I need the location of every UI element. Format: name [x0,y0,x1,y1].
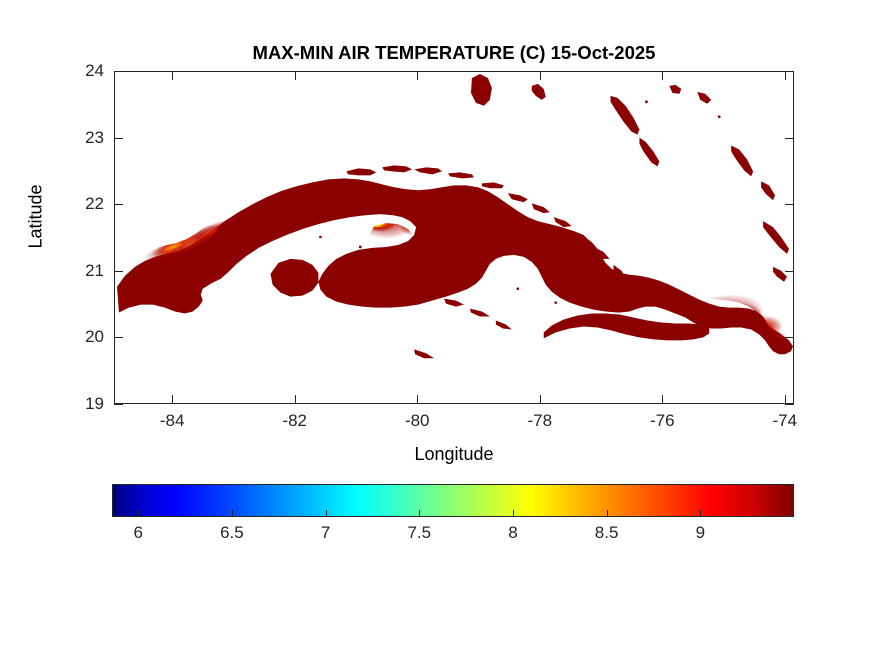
y-tick-label: 19 [62,395,104,412]
colorbar-tick-mark [513,510,514,517]
x-axis-label: Longitude [114,444,794,465]
y-tick-mark [114,204,123,205]
x-tick-mark-top [417,71,418,80]
x-tick-mark-top [172,71,173,80]
x-tick-mark [540,395,541,404]
colorbar-tick-mark [326,510,327,517]
x-tick-mark-top [662,71,663,80]
y-tick-mark [114,138,123,139]
x-tick-mark-top [785,71,786,80]
y-tick-mark [114,71,123,72]
colorbar-tick-label: 8.5 [572,524,642,541]
y-tick-mark-right [785,138,794,139]
colorbar-tick-mark [700,510,701,517]
y-axis-label: Latitude [26,157,47,277]
x-tick-mark [662,395,663,404]
y-tick-label: 21 [62,262,104,279]
y-tick-label: 23 [62,129,104,146]
colorbar-tick-label: 6.5 [197,524,267,541]
colorbar-tick-mark [419,510,420,517]
y-tick-mark [114,337,123,338]
y-tick-mark [114,271,123,272]
page-title: MAX-MIN AIR TEMPERATURE (C) 15-Oct-2025 [114,42,794,64]
y-tick-label: 22 [62,195,104,212]
colorbar-tick-mark [232,510,233,517]
y-tick-mark-right [785,404,794,405]
x-tick-mark [172,395,173,404]
cuba-temperature-raster [115,72,793,403]
y-tick-label: 24 [62,62,104,79]
y-tick-mark-right [785,204,794,205]
x-tick-mark [785,395,786,404]
x-tick-label: -74 [750,412,820,429]
y-tick-mark-right [785,271,794,272]
y-tick-label: 20 [62,328,104,345]
colorbar-tick-mark [607,510,608,517]
x-tick-mark [295,395,296,404]
map-axes[interactable] [114,71,794,404]
colorbar-tick-label: 7.5 [384,524,454,541]
colorbar-tick-label: 8 [478,524,548,541]
x-tick-label: -76 [627,412,697,429]
x-tick-mark [417,395,418,404]
x-tick-label: -78 [505,412,575,429]
x-tick-label: -80 [382,412,452,429]
x-tick-mark-top [540,71,541,80]
x-tick-label: -84 [137,412,207,429]
y-tick-mark-right [785,337,794,338]
y-tick-mark [114,404,123,405]
colorbar-tick-label: 6 [103,524,173,541]
x-tick-label: -82 [260,412,330,429]
colorbar-tick-label: 9 [665,524,735,541]
colorbar-tick-mark [138,510,139,517]
colorbar-tick-label: 7 [291,524,361,541]
figure-canvas: MAX-MIN AIR TEMPERATURE (C) 15-Oct-2025 [0,0,875,656]
colorbar[interactable] [112,484,794,517]
colorbar-gradient [112,484,794,517]
x-tick-mark-top [295,71,296,80]
y-tick-mark-right [785,71,794,72]
